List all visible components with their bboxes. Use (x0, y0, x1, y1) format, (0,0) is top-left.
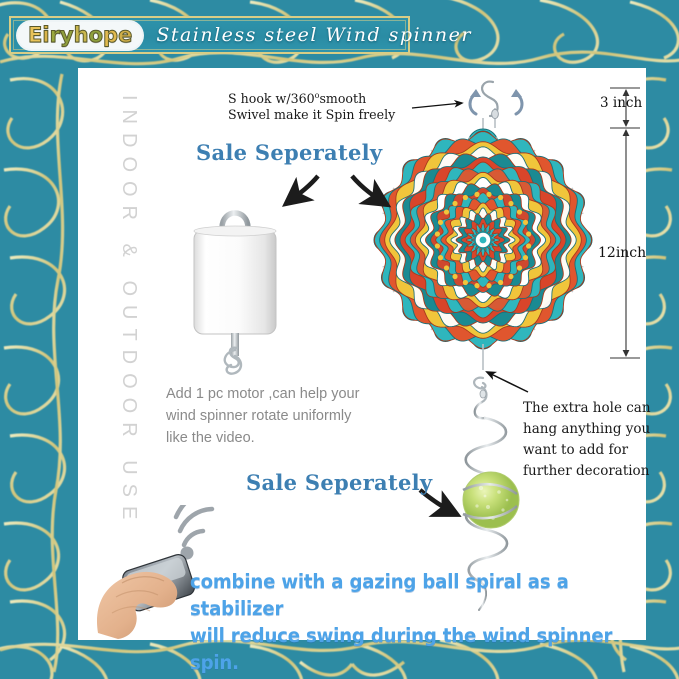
header-banner: Eiryhope Stainless steel Wind spinner (9, 16, 410, 54)
white-motor-cylinder (185, 198, 285, 378)
bottom-message-line2: will reduce swing during the wind spinne… (190, 622, 627, 676)
sale-separately-top: Sale Seperately (196, 140, 382, 165)
logo-letter: e (118, 23, 132, 47)
extra-hole-line4: further decoration (523, 461, 673, 482)
brand-logo: Eiryhope (18, 22, 142, 49)
logo-letter: r (50, 23, 60, 47)
infographic-root: Eiryhope Stainless steel Wind spinner IN… (0, 0, 679, 679)
motor-description: Add 1 pc motor ,can help your wind spinn… (166, 383, 381, 449)
extra-hole-line2: hang anything you (523, 419, 673, 440)
vertical-side-label: INDOOR & OUTDOOR USE (100, 95, 140, 550)
motor-description-line3: like the video. (166, 427, 381, 449)
logo-letter: y (60, 23, 74, 47)
sale-separately-bottom: Sale Seperately (246, 470, 432, 495)
dimension-label-top: 3 inch (600, 95, 642, 111)
bottom-message: combine with a gazing ball spiral as a s… (190, 568, 627, 676)
extra-hole-line1: The extra hole can (523, 398, 673, 419)
extra-hole-description: The extra hole can hang anything you wan… (523, 398, 673, 482)
mandala-wind-spinner (368, 118, 598, 373)
bottom-message-line1: combine with a gazing ball spiral as a s… (190, 568, 627, 622)
motor-description-line2: wind spinner rotate uniformly (166, 405, 381, 427)
motor-description-line1: Add 1 pc motor ,can help your (166, 383, 381, 405)
logo-letter: E (28, 23, 42, 47)
s-hook-callout-line1b: smooth (319, 91, 366, 106)
banner-title: Stainless steel Wind spinner (156, 24, 472, 46)
s-hook-callout-line2: Swivel make it Spin freely (228, 107, 395, 122)
logo-letter: p (103, 23, 118, 47)
logo-letter: o (89, 23, 103, 47)
extra-hole-line3: want to add for (523, 440, 673, 461)
logo-letter: i (42, 23, 49, 47)
logo-letter: h (74, 23, 89, 47)
s-hook-callout: S hook w/360osmooth Swivel make it Spin … (228, 88, 438, 123)
dimension-label-main: 12inch (598, 245, 646, 261)
s-hook-callout-line1: S hook w/360 (228, 91, 315, 106)
